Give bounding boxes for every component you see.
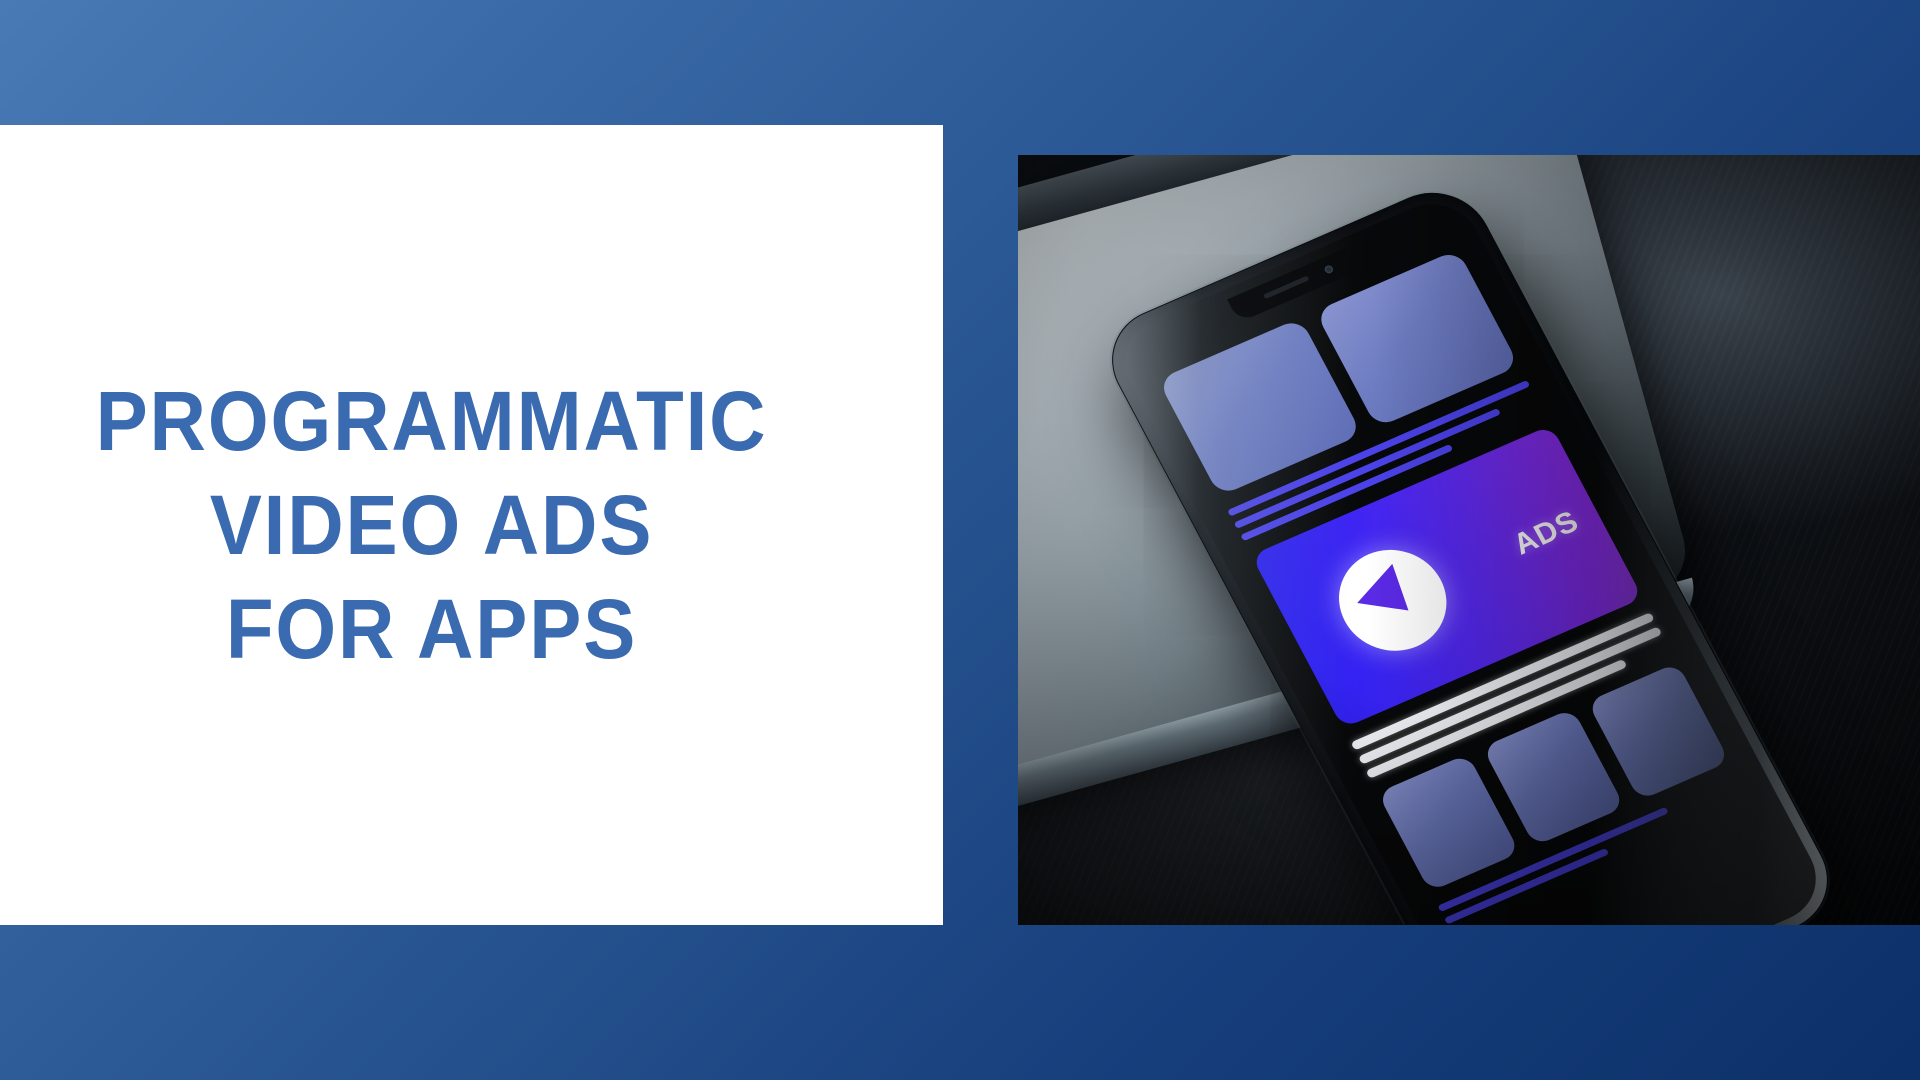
- title-panel: PROGRAMMATIC VIDEO ADS FOR APPS: [0, 125, 943, 925]
- title-line-1: PROGRAMMATIC: [30, 369, 833, 473]
- top-card-row: [1158, 249, 1520, 496]
- slide-canvas: PROGRAMMATIC VIDEO ADS FOR APPS: [0, 0, 1920, 1080]
- play-button-icon[interactable]: [1320, 534, 1464, 667]
- page-title: PROGRAMMATIC VIDEO ADS FOR APPS: [0, 369, 943, 681]
- title-line-3: FOR APPS: [30, 577, 833, 681]
- ads-badge: ADS: [1508, 505, 1585, 562]
- hero-photo: ADS: [1018, 155, 1920, 925]
- play-triangle-icon: [1357, 564, 1426, 630]
- front-camera-icon: [1323, 264, 1334, 274]
- title-line-2: VIDEO ADS: [30, 473, 833, 577]
